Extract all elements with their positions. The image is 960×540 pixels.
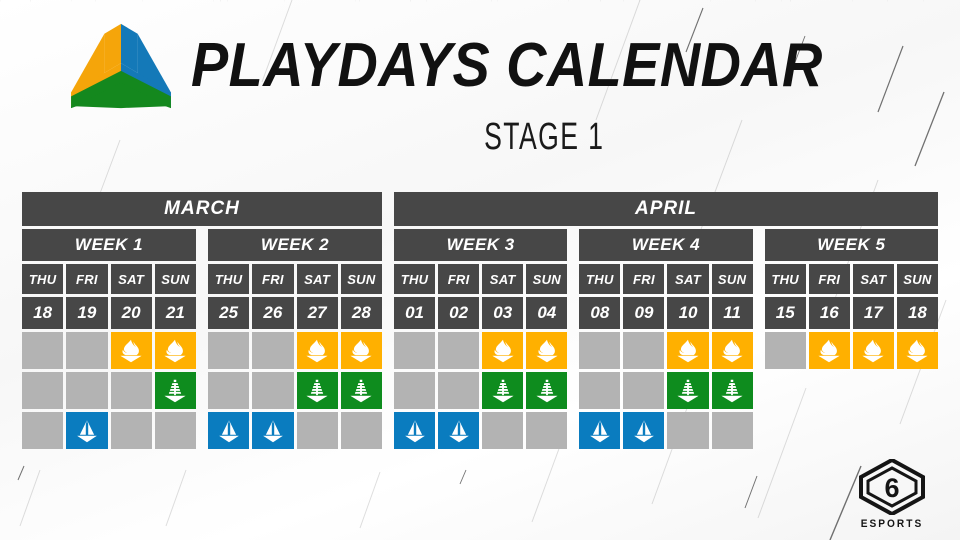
day-of-week-cell: SUN	[526, 264, 567, 294]
date-row: 25262728	[208, 297, 382, 329]
flame-shield-icon	[719, 339, 745, 363]
week-column: WEEK 3THUFRISATSUN01020304	[394, 229, 567, 449]
match-slot-row	[765, 372, 938, 409]
pyramid-icon	[490, 379, 516, 403]
match-slot-absent	[809, 372, 850, 409]
week-label: WEEK 4	[579, 229, 752, 261]
match-slot-filled[interactable]	[897, 332, 938, 369]
match-slot-filled[interactable]	[712, 372, 753, 409]
match-slot-filled[interactable]	[208, 412, 249, 449]
date-cell: 20	[111, 297, 152, 329]
day-of-week-cell: FRI	[438, 264, 479, 294]
date-cell: 16	[809, 297, 850, 329]
match-slot-absent	[853, 372, 894, 409]
match-slot-empty	[155, 412, 196, 449]
match-slot-empty	[623, 332, 664, 369]
date-cell: 04	[526, 297, 567, 329]
match-slot-filled[interactable]	[667, 332, 708, 369]
date-cell: 21	[155, 297, 196, 329]
match-slot-absent	[765, 372, 806, 409]
match-slot-filled[interactable]	[252, 412, 293, 449]
page-header: PLAYDAYS CALENDAR STAGE 1	[0, 20, 960, 160]
date-cell: 28	[341, 297, 382, 329]
match-slot-filled[interactable]	[438, 412, 479, 449]
sail-icon	[587, 419, 613, 443]
flame-shield-icon	[162, 339, 188, 363]
day-of-week-cell: SAT	[667, 264, 708, 294]
match-slot-empty	[712, 412, 753, 449]
match-slot-filled[interactable]	[341, 372, 382, 409]
flame-shield-icon	[118, 339, 144, 363]
match-slot-row	[765, 332, 938, 369]
match-slot-row	[22, 412, 196, 449]
month-block: MARCHWEEK 1THUFRISATSUN18192021WEEK 2THU…	[22, 192, 382, 449]
date-cell: 18	[22, 297, 63, 329]
date-cell: 18	[897, 297, 938, 329]
week-column: WEEK 5THUFRISATSUN15161718	[765, 229, 938, 449]
match-slot-filled[interactable]	[155, 372, 196, 409]
match-slot-empty	[22, 412, 63, 449]
match-slot-filled[interactable]	[297, 372, 338, 409]
esports-label: ESPORTS	[861, 518, 924, 530]
match-slot-row	[22, 332, 196, 369]
date-cell: 09	[623, 297, 664, 329]
match-slot-row	[579, 372, 752, 409]
date-row: 18192021	[22, 297, 196, 329]
match-slot-filled[interactable]	[111, 332, 152, 369]
flame-shield-icon	[904, 339, 930, 363]
match-slot-absent	[853, 412, 894, 449]
day-of-week-cell: SAT	[297, 264, 338, 294]
match-slot-row	[208, 412, 382, 449]
match-slot-absent	[897, 372, 938, 409]
match-slot-empty	[579, 332, 620, 369]
match-slot-absent	[897, 412, 938, 449]
day-of-week-cell: THU	[208, 264, 249, 294]
date-cell: 26	[252, 297, 293, 329]
match-slot-empty	[22, 372, 63, 409]
match-slot-row	[394, 412, 567, 449]
date-cell: 08	[579, 297, 620, 329]
day-of-week-row: THUFRISATSUN	[208, 264, 382, 294]
match-slot-empty	[438, 332, 479, 369]
match-slot-empty	[66, 372, 107, 409]
date-cell: 17	[853, 297, 894, 329]
match-slot-empty	[22, 332, 63, 369]
day-of-week-cell: FRI	[809, 264, 850, 294]
match-slot-empty	[208, 372, 249, 409]
date-cell: 27	[297, 297, 338, 329]
day-of-week-cell: FRI	[252, 264, 293, 294]
day-of-week-cell: THU	[22, 264, 63, 294]
match-slot-empty	[341, 412, 382, 449]
match-slot-row	[22, 372, 196, 409]
day-of-week-cell: SUN	[155, 264, 196, 294]
day-of-week-row: THUFRISATSUN	[394, 264, 567, 294]
match-slot-row	[394, 332, 567, 369]
sail-icon	[74, 419, 100, 443]
flame-shield-icon	[675, 339, 701, 363]
match-slot-filled[interactable]	[526, 332, 567, 369]
page-title: PLAYDAYS CALENDAR	[191, 35, 823, 97]
match-slot-empty	[526, 412, 567, 449]
match-slot-filled[interactable]	[712, 332, 753, 369]
day-of-week-cell: SUN	[897, 264, 938, 294]
day-of-week-cell: SUN	[712, 264, 753, 294]
flame-shield-icon	[490, 339, 516, 363]
day-of-week-cell: FRI	[623, 264, 664, 294]
sail-icon	[216, 419, 242, 443]
flame-shield-icon	[534, 339, 560, 363]
match-slot-row	[765, 412, 938, 449]
match-slot-empty	[66, 332, 107, 369]
match-slot-row	[208, 332, 382, 369]
sail-icon	[260, 419, 286, 443]
day-of-week-cell: SUN	[341, 264, 382, 294]
week-column: WEEK 2THUFRISATSUN25262728	[208, 229, 382, 449]
day-of-week-cell: SAT	[111, 264, 152, 294]
month-name: APRIL	[394, 192, 938, 226]
match-slot-filled[interactable]	[526, 372, 567, 409]
match-slot-empty	[623, 372, 664, 409]
date-row: 08091011	[579, 297, 752, 329]
day-of-week-cell: SAT	[853, 264, 894, 294]
match-slot-filled[interactable]	[155, 332, 196, 369]
match-slot-filled[interactable]	[579, 412, 620, 449]
match-slot-empty	[579, 372, 620, 409]
flame-shield-icon	[304, 339, 330, 363]
match-slot-empty	[208, 332, 249, 369]
match-slot-absent	[809, 412, 850, 449]
day-of-week-row: THUFRISATSUN	[22, 264, 196, 294]
match-slot-empty	[765, 332, 806, 369]
weeks-row: WEEK 3THUFRISATSUN01020304WEEK 4THUFRISA…	[394, 229, 938, 449]
date-cell: 25	[208, 297, 249, 329]
title-row: PLAYDAYS CALENDAR	[67, 20, 893, 112]
svg-text:6: 6	[884, 473, 899, 503]
date-row: 15161718	[765, 297, 938, 329]
pyramid-icon	[304, 379, 330, 403]
week-label: WEEK 1	[22, 229, 196, 261]
match-slot-filled[interactable]	[297, 332, 338, 369]
match-slot-empty	[667, 412, 708, 449]
match-slot-filled[interactable]	[809, 332, 850, 369]
flame-shield-icon	[348, 339, 374, 363]
day-of-week-cell: FRI	[66, 264, 107, 294]
flame-shield-icon	[816, 339, 842, 363]
match-slot-filled[interactable]	[623, 412, 664, 449]
day-of-week-row: THUFRISATSUN	[579, 264, 752, 294]
match-slot-empty	[111, 412, 152, 449]
date-cell: 02	[438, 297, 479, 329]
match-slot-row	[579, 332, 752, 369]
match-slot-empty	[297, 412, 338, 449]
date-cell: 11	[712, 297, 753, 329]
match-slot-filled[interactable]	[482, 332, 523, 369]
week-column: WEEK 4THUFRISATSUN08091011	[579, 229, 752, 449]
day-of-week-cell: THU	[579, 264, 620, 294]
sail-icon	[402, 419, 428, 443]
date-cell: 19	[66, 297, 107, 329]
pyramid-icon	[719, 379, 745, 403]
match-slot-row	[579, 412, 752, 449]
sail-icon	[446, 419, 472, 443]
date-cell: 01	[394, 297, 435, 329]
date-cell: 03	[482, 297, 523, 329]
match-slot-row	[394, 372, 567, 409]
week-label: WEEK 5	[765, 229, 938, 261]
flame-shield-icon	[860, 339, 886, 363]
playdays-calendar: MARCHWEEK 1THUFRISATSUN18192021WEEK 2THU…	[22, 192, 938, 449]
week-label: WEEK 3	[394, 229, 567, 261]
match-slot-empty	[482, 412, 523, 449]
pyramid-icon	[534, 379, 560, 403]
match-slot-row	[208, 372, 382, 409]
match-slot-filled[interactable]	[66, 412, 107, 449]
month-block: APRILWEEK 3THUFRISATSUN01020304WEEK 4THU…	[394, 192, 938, 449]
match-slot-empty	[252, 372, 293, 409]
match-slot-empty	[438, 372, 479, 409]
date-row: 01020304	[394, 297, 567, 329]
pyramid-icon	[675, 379, 701, 403]
playdays-tri-arrow-logo	[67, 20, 175, 112]
match-slot-filled[interactable]	[394, 412, 435, 449]
day-of-week-cell: SAT	[482, 264, 523, 294]
sail-icon	[631, 419, 657, 443]
day-of-week-cell: THU	[765, 264, 806, 294]
match-slot-absent	[765, 412, 806, 449]
week-label: WEEK 2	[208, 229, 382, 261]
week-column: WEEK 1THUFRISATSUN18192021	[22, 229, 196, 449]
day-of-week-cell: THU	[394, 264, 435, 294]
match-slot-empty	[394, 372, 435, 409]
match-slot-empty	[111, 372, 152, 409]
rainbow-six-esports-logo: 6 ESPORTS	[844, 452, 940, 530]
date-cell: 15	[765, 297, 806, 329]
r6-hexagon-icon: 6	[859, 459, 925, 515]
page-subtitle: STAGE 1	[484, 118, 604, 156]
match-slot-empty	[252, 332, 293, 369]
pyramid-icon	[348, 379, 374, 403]
match-slot-filled[interactable]	[341, 332, 382, 369]
pyramid-icon	[162, 379, 188, 403]
weeks-row: WEEK 1THUFRISATSUN18192021WEEK 2THUFRISA…	[22, 229, 382, 449]
date-cell: 10	[667, 297, 708, 329]
day-of-week-row: THUFRISATSUN	[765, 264, 938, 294]
match-slot-filled[interactable]	[482, 372, 523, 409]
month-name: MARCH	[22, 192, 382, 226]
match-slot-filled[interactable]	[667, 372, 708, 409]
match-slot-empty	[394, 332, 435, 369]
match-slot-filled[interactable]	[853, 332, 894, 369]
